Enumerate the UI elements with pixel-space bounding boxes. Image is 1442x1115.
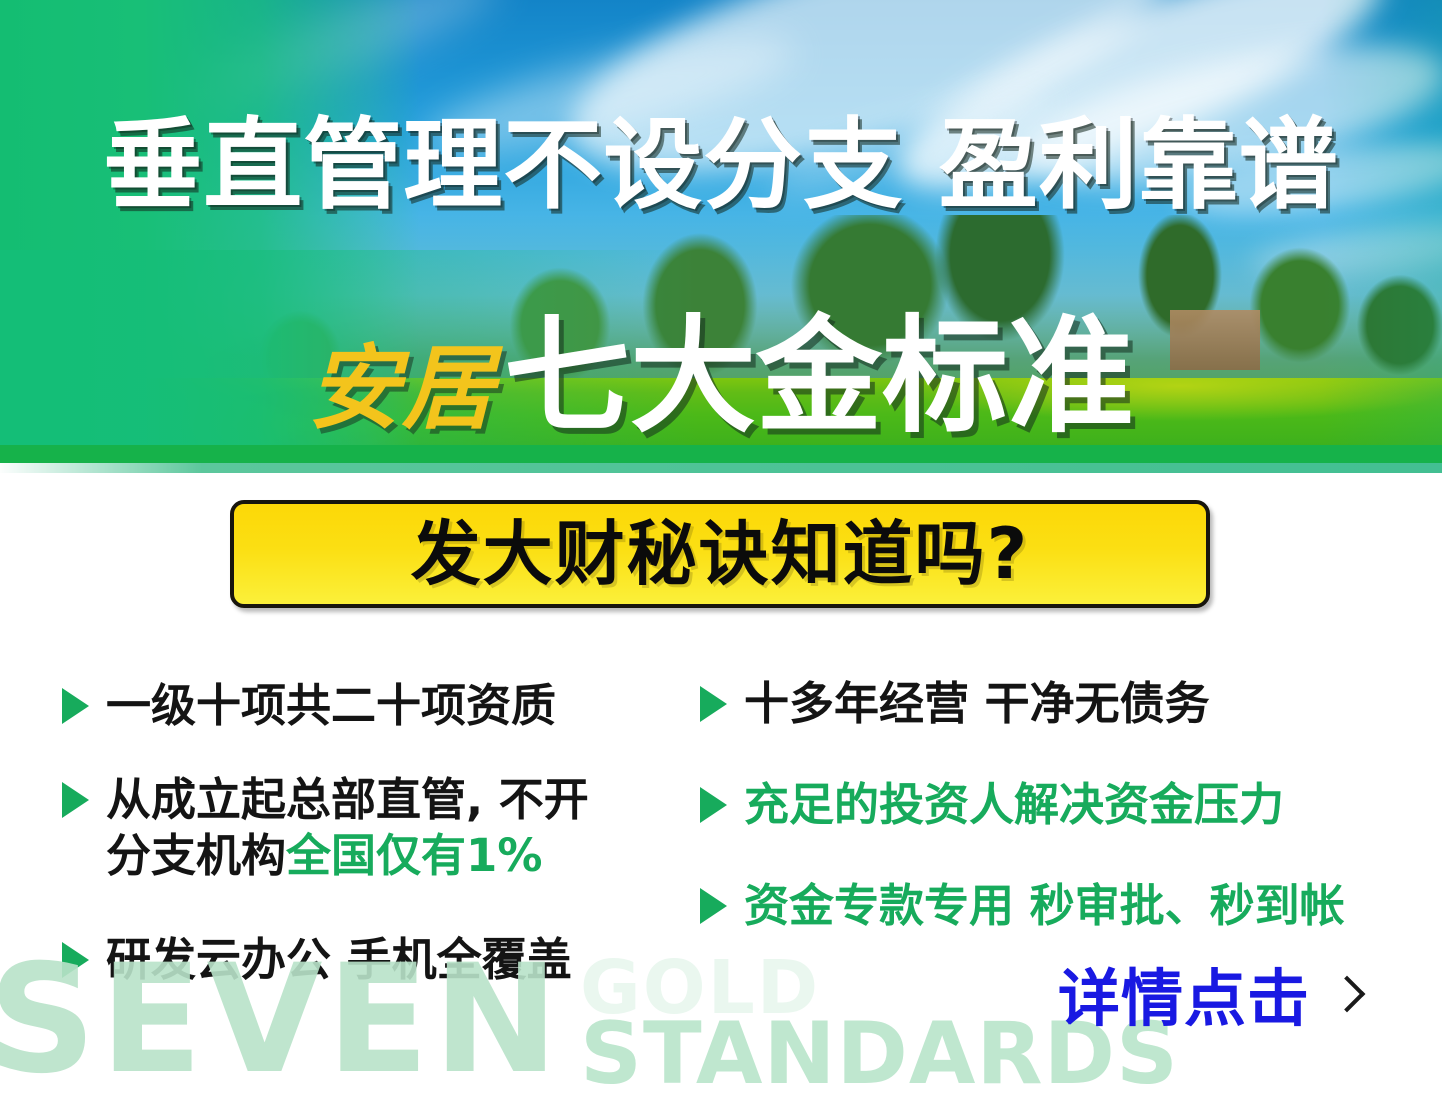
list-item-label: 研发云办公 手机全覆盖 <box>106 932 572 988</box>
triangle-bullet-icon <box>62 782 89 818</box>
details-cta-label: 详情点击 <box>1058 968 1310 1030</box>
green-divider-band <box>0 445 1442 463</box>
list-item-label: 资金专款专用 秒审批、秒到帐 <box>744 878 1345 934</box>
list-item-label: 一级十项共二十项资质 <box>106 678 556 734</box>
details-cta[interactable]: 详情点击 <box>1058 968 1358 1030</box>
triangle-bullet-icon <box>700 787 727 823</box>
list-item: 十多年经营 干净无债务 <box>700 676 1210 732</box>
list-item-label: 十多年经营 干净无债务 <box>744 676 1210 732</box>
list-item: 一级十项共二十项资质 <box>62 678 556 734</box>
hero-headline: 垂直管理不设分支 盈利靠谱 <box>0 116 1442 215</box>
list-item: 研发云办公 手机全覆盖 <box>62 932 572 988</box>
hero-banner: 垂直管理不设分支 盈利靠谱 安居七大金标准 <box>0 0 1442 473</box>
chevron-right-icon <box>1332 977 1358 1021</box>
hero-brand-word: 安居 <box>308 334 496 442</box>
list-item-line-2-plain: 分支机构 <box>106 829 286 882</box>
triangle-bullet-icon <box>700 686 727 722</box>
triangle-bullet-icon <box>62 942 89 978</box>
features-section: 一级十项共二十项资质 从成立起总部直管, 不开 分支机构全国仅有1% 研发云办公… <box>0 640 1442 970</box>
list-item-label: 充足的投资人解决资金压力 <box>744 777 1284 833</box>
hero-text-block: 垂直管理不设分支 盈利靠谱 安居七大金标准 <box>0 0 1442 473</box>
list-item-label: 从成立起总部直管, 不开 分支机构全国仅有1% <box>106 772 589 884</box>
list-item-line-1: 从成立起总部直管, 不开 <box>106 773 589 826</box>
hero-subtitle: 安居七大金标准 <box>0 275 1442 457</box>
teal-divider-band <box>0 463 1442 473</box>
list-item-line-2-highlight: 全国仅有1% <box>286 829 542 882</box>
list-item: 资金专款专用 秒审批、秒到帐 <box>700 878 1345 934</box>
list-item: 充足的投资人解决资金压力 <box>700 777 1284 833</box>
highlight-banner[interactable]: 发大财秘诀知道吗? <box>230 500 1210 608</box>
list-item: 从成立起总部直管, 不开 分支机构全国仅有1% <box>62 772 589 884</box>
triangle-bullet-icon <box>700 888 727 924</box>
highlight-banner-text: 发大财秘诀知道吗? <box>411 519 1030 589</box>
triangle-bullet-icon <box>62 688 89 724</box>
hero-main-word: 七大金标准 <box>504 303 1134 450</box>
